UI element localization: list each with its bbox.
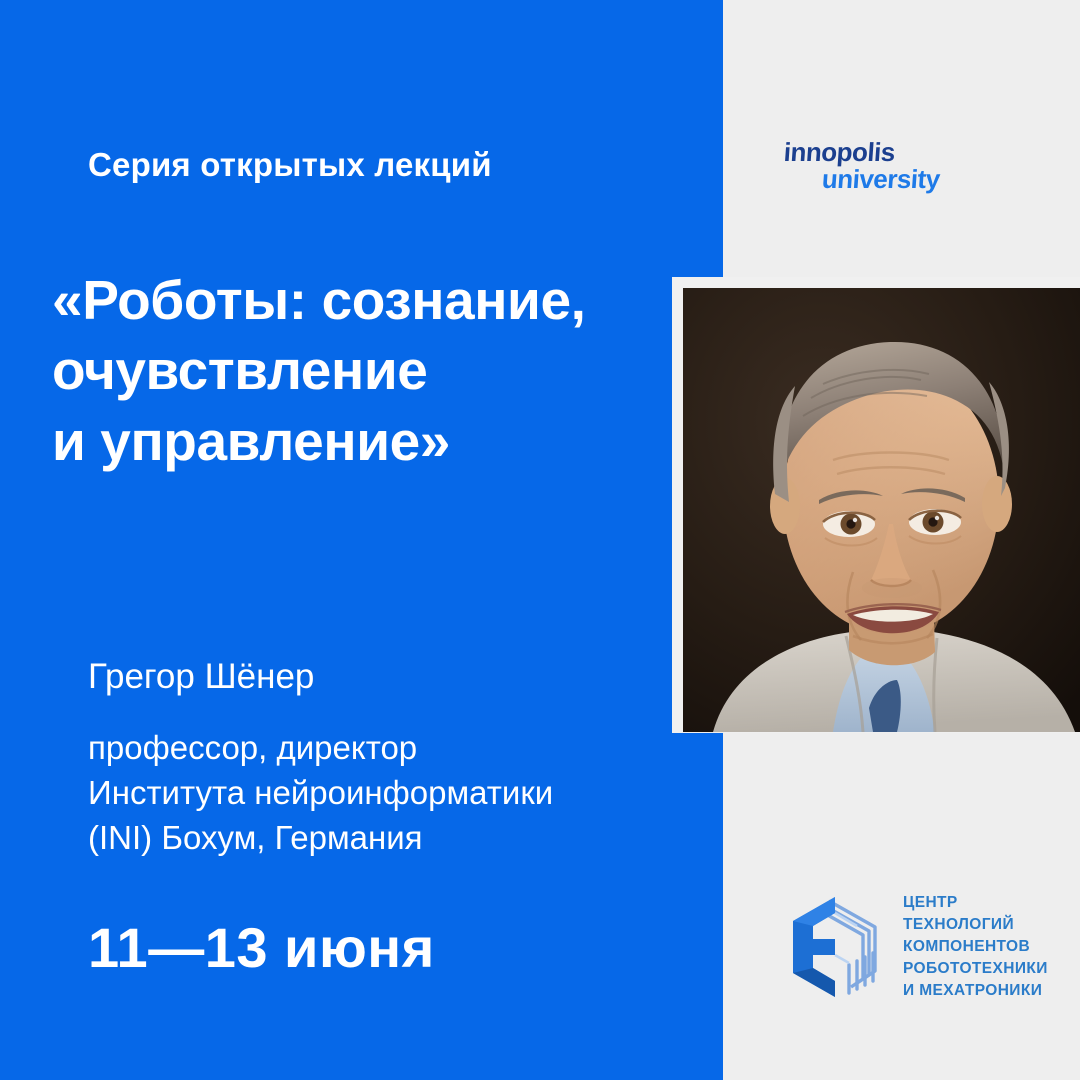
center-text-line-2: ТЕХНОЛОГИЙ [903, 914, 1048, 936]
lecture-poster: Серия открытых лекций «Роботы: сознание,… [0, 0, 1080, 1080]
speaker-photo [683, 288, 1080, 732]
poster-kicker: Серия открытых лекций [88, 145, 492, 185]
speaker-role-line-2: Института нейроинформатики [88, 770, 668, 815]
svg-text:innopolis: innopolis [783, 137, 896, 167]
center-text-line-5: И МЕХАТРОНИКИ [903, 980, 1048, 1002]
robotics-center-name: ЦЕНТР ТЕХНОЛОГИЙ КОМПОНЕНТОВ РОБОТОТЕХНИ… [903, 892, 1048, 1002]
robotics-center-logo: ЦЕНТР ТЕХНОЛОГИЙ КОМПОНЕНТОВ РОБОТОТЕХНИ… [783, 888, 1045, 1006]
innopolis-university-logo: innopolis university [783, 136, 1028, 198]
speaker-role: профессор, директор Института нейроинфор… [88, 725, 668, 861]
center-text-line-1: ЦЕНТР [903, 892, 1048, 914]
speaker-role-line-1: профессор, директор [88, 725, 668, 770]
title-line-1: «Роботы: сознание, [52, 265, 672, 335]
event-dates: 11—13 июня [88, 915, 435, 980]
speaker-block: Грегор Шёнер профессор, директор Институ… [88, 655, 668, 860]
speaker-role-line-3: (INI) Бохум, Германия [88, 815, 668, 860]
center-text-line-4: РОБОТОТЕХНИКИ [903, 958, 1048, 980]
title-line-2: очувствление [52, 335, 672, 405]
title-line-3: и управление» [52, 406, 672, 476]
speaker-name: Грегор Шёнер [88, 655, 668, 699]
svg-text:university: university [821, 164, 942, 194]
isometric-cube-c-icon [783, 891, 887, 1003]
poster-title: «Роботы: сознание, очувствление и управл… [52, 265, 672, 476]
center-text-line-3: КОМПОНЕНТОВ [903, 936, 1048, 958]
